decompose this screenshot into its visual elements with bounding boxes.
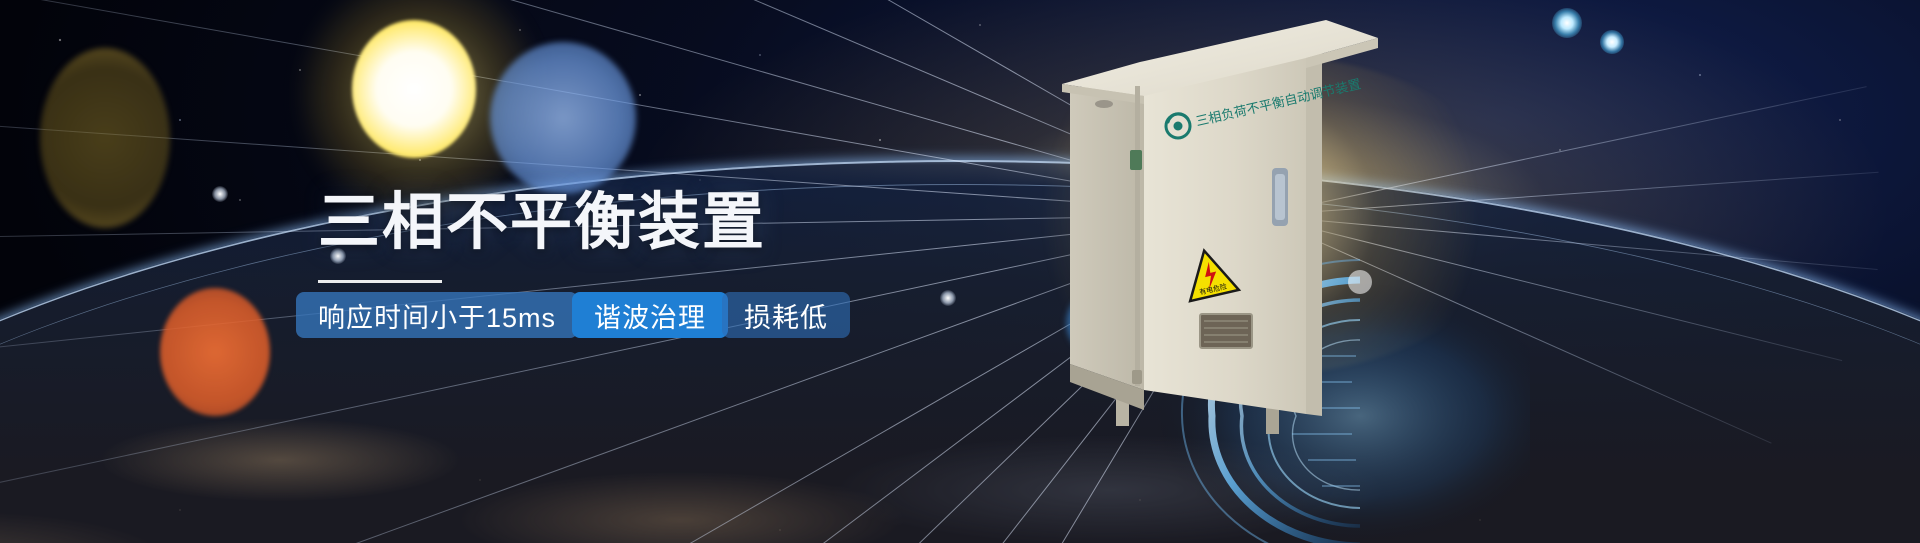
cabinet-vent xyxy=(1200,314,1252,348)
white-orb-icon xyxy=(352,20,476,158)
side-lock-icon xyxy=(1095,100,1113,108)
title-underline xyxy=(318,280,442,283)
sparkle-light-icon xyxy=(1552,8,1582,38)
feature-tag-harmonic[interactable]: 谐波治理 xyxy=(572,292,728,338)
feature-tag-response-time[interactable]: 响应时间小于15ms xyxy=(296,292,578,338)
door-latch xyxy=(1132,370,1142,384)
orange-orb-icon xyxy=(160,288,270,416)
page-title: 三相不平衡装置 xyxy=(318,192,1098,254)
feature-tag-list: 响应时间小于15ms 谐波治理 损耗低 xyxy=(296,292,850,338)
door-latch xyxy=(1130,150,1142,170)
sparkle-light-icon xyxy=(1600,30,1624,54)
door-hinge xyxy=(1135,86,1140,386)
product-cabinet: 三相负荷不平衡自动调节装置 有电危险 xyxy=(1060,18,1390,438)
grid-node-icon xyxy=(212,186,228,202)
blue-orb-icon xyxy=(490,42,636,194)
grid-node-icon xyxy=(940,290,956,306)
feature-tag-low-loss[interactable]: 损耗低 xyxy=(722,292,850,338)
headline-block: 三相不平衡装置 xyxy=(318,192,1098,283)
hero-banner: 三相负荷不平衡自动调节装置 有电危险 三相不平衡装置 响应时间小于15ms 谐波… xyxy=(0,0,1920,543)
olive-orb-icon xyxy=(40,48,170,228)
